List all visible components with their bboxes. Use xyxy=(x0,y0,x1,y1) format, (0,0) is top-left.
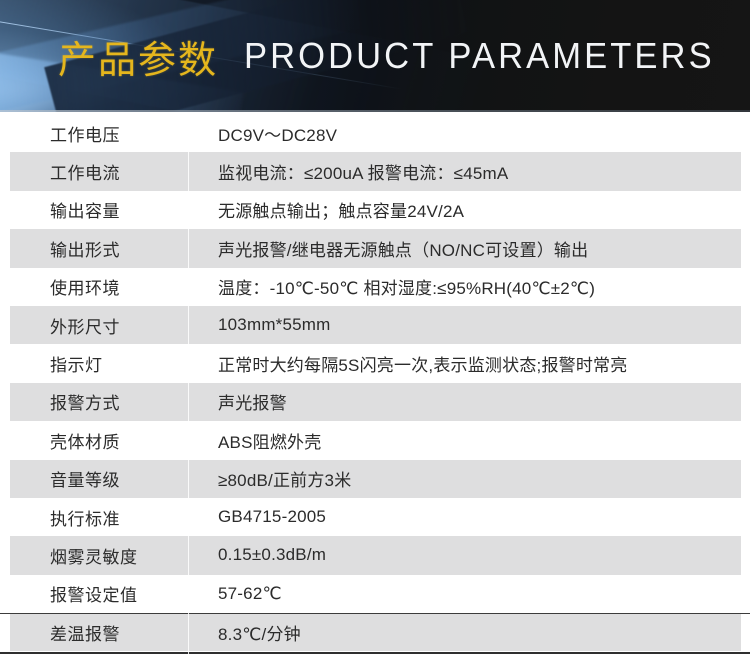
spec-label: 报警方式 xyxy=(0,389,188,414)
spec-value: ABS阻燃外壳 xyxy=(188,428,750,453)
table-row: 工作电压 DC9V～DC28V xyxy=(0,114,750,152)
table-row: 烟雾灵敏度 0.15±0.3dB/m xyxy=(0,536,750,574)
spec-label: 工作电流 xyxy=(0,159,188,184)
spec-value: 8.3℃/分钟 xyxy=(188,620,750,645)
table-row: 差温报警 8.3℃/分钟 xyxy=(0,613,750,651)
spec-label: 外形尺寸 xyxy=(0,313,188,338)
spec-value: 温度：-10℃-50℃ 相对湿度:≤95%RH(40℃±2℃) xyxy=(188,274,750,299)
table-row: 壳体材质 ABS阻燃外壳 xyxy=(0,421,750,459)
spec-value: 0.15±0.3dB/m xyxy=(188,545,750,565)
spec-label: 使用环境 xyxy=(0,274,188,299)
spec-value: GB4715-2005 xyxy=(188,507,750,527)
spec-label: 指示灯 xyxy=(0,351,188,376)
spec-label: 音量等级 xyxy=(0,466,188,491)
table-row: 使用环境 温度：-10℃-50℃ 相对湿度:≤95%RH(40℃±2℃) xyxy=(0,268,750,306)
spec-label: 工作电压 xyxy=(0,121,188,146)
spec-value: DC9V～DC28V xyxy=(188,121,750,146)
product-spec-table: 工作电压 DC9V～DC28V 工作电流 监视电流：≤200uA 报警电流：≤4… xyxy=(0,112,750,654)
spec-value: 正常时大约每隔5S闪亮一次,表示监测状态;报警时常亮 xyxy=(188,351,750,376)
spec-label: 执行标准 xyxy=(0,505,188,530)
table-row: 音量等级 ≥80dB/正前方3米 xyxy=(0,460,750,498)
spec-label: 烟雾灵敏度 xyxy=(0,543,188,568)
table-row: 工作电流 监视电流：≤200uA 报警电流：≤45mA xyxy=(0,152,750,190)
table-row: 指示灯 正常时大约每隔5S闪亮一次,表示监测状态;报警时常亮 xyxy=(0,344,750,382)
banner-title-chinese: 产品参数 xyxy=(58,29,218,84)
spec-value: 103mm*55mm xyxy=(188,315,750,335)
spec-label: 输出形式 xyxy=(0,236,188,261)
spec-label: 壳体材质 xyxy=(0,428,188,453)
banner-title-group: 产品参数 PRODUCT PARAMETERS xyxy=(58,0,734,112)
spec-value: 声光报警 xyxy=(188,389,750,414)
product-parameters-banner: 产品参数 PRODUCT PARAMETERS xyxy=(0,0,750,112)
spec-value: 57-62℃ xyxy=(188,584,750,604)
table-row: 输出容量 无源触点输出；触点容量24V/2A xyxy=(0,191,750,229)
spec-label: 差温报警 xyxy=(0,620,188,645)
table-row: 输出形式 声光报警/继电器无源触点（NO/NC可设置）输出 xyxy=(0,229,750,267)
spec-label: 输出容量 xyxy=(0,197,188,222)
spec-value: ≥80dB/正前方3米 xyxy=(188,466,750,491)
spec-value: 监视电流：≤200uA 报警电流：≤45mA xyxy=(188,159,750,184)
table-row: 执行标准 GB4715-2005 xyxy=(0,498,750,536)
spec-value: 无源触点输出；触点容量24V/2A xyxy=(188,197,750,222)
table-row: 报警方式 声光报警 xyxy=(0,383,750,421)
spec-value: 声光报警/继电器无源触点（NO/NC可设置）输出 xyxy=(188,236,750,261)
spec-label: 报警设定值 xyxy=(0,581,188,606)
table-row: 报警设定值 57-62℃ xyxy=(0,575,750,613)
table-row: 外形尺寸 103mm*55mm xyxy=(0,306,750,344)
banner-title-english: PRODUCT PARAMETERS xyxy=(244,35,715,77)
